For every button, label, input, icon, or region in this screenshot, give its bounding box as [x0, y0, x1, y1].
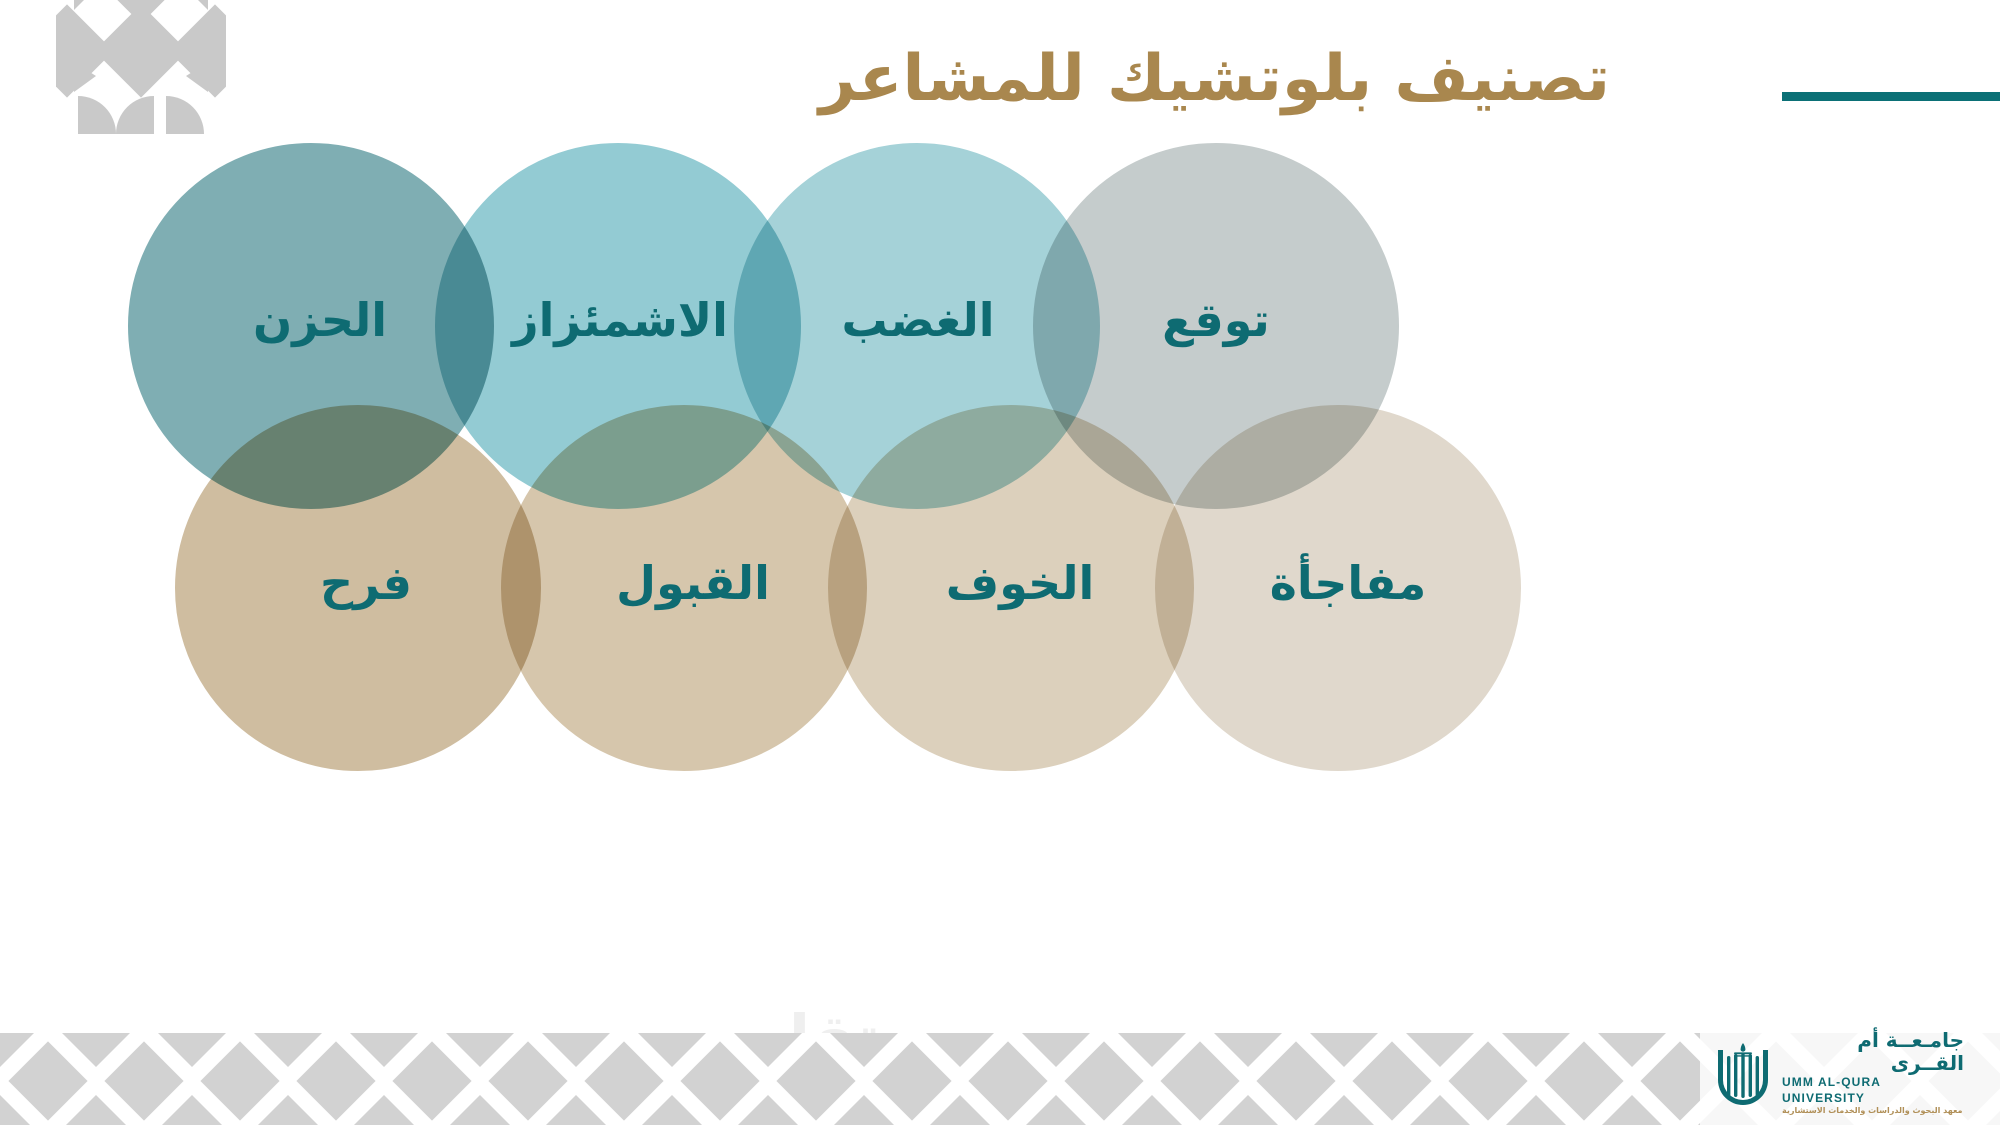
university-logo: جامـعــة أم القــرى UMM AL-QURA UNIVERSI… [1714, 1035, 1964, 1111]
emotion-label-joy: فرح [320, 556, 412, 610]
university-name-arabic: جامـعــة أم القــرى [1782, 1029, 1964, 1075]
umm-al-qura-emblem-icon [1714, 1040, 1772, 1106]
emotion-label-fear: الخوف [946, 556, 1094, 610]
institute-name-arabic: معهد البحوث والدراسات والخدمات الاستشاري… [1782, 1106, 1962, 1116]
emotion-venn-diagram: الحزن الاشمئزاز الغضب توقع فرح القبول ال… [0, 120, 2000, 950]
emotion-label-disgust: الاشمئزاز [512, 293, 728, 347]
slide-canvas: تصنيف بلوتشيك للمشاعر الحزن الاشمئزاز ال… [0, 0, 2000, 1125]
emotion-label-acceptance: القبول [616, 556, 770, 610]
slide-header: تصنيف بلوتشيك للمشاعر [0, 26, 2000, 126]
emotion-label-surprise: مفاجأة [1270, 556, 1426, 610]
page-title: تصنيف بلوتشيك للمشاعر [819, 44, 1610, 114]
emotion-label-sadness: الحزن [253, 293, 387, 347]
title-accent-line [1782, 92, 2000, 101]
university-name-english: UMM AL-QURA UNIVERSITY [1782, 1075, 1964, 1106]
emotion-label-anticipation: توقع [1162, 293, 1270, 347]
emotion-label-anger: الغضب [841, 293, 994, 347]
university-logo-text: جامـعــة أم القــرى UMM AL-QURA UNIVERSI… [1782, 1029, 1964, 1117]
diamond-lattice-border [0, 1033, 2000, 1125]
